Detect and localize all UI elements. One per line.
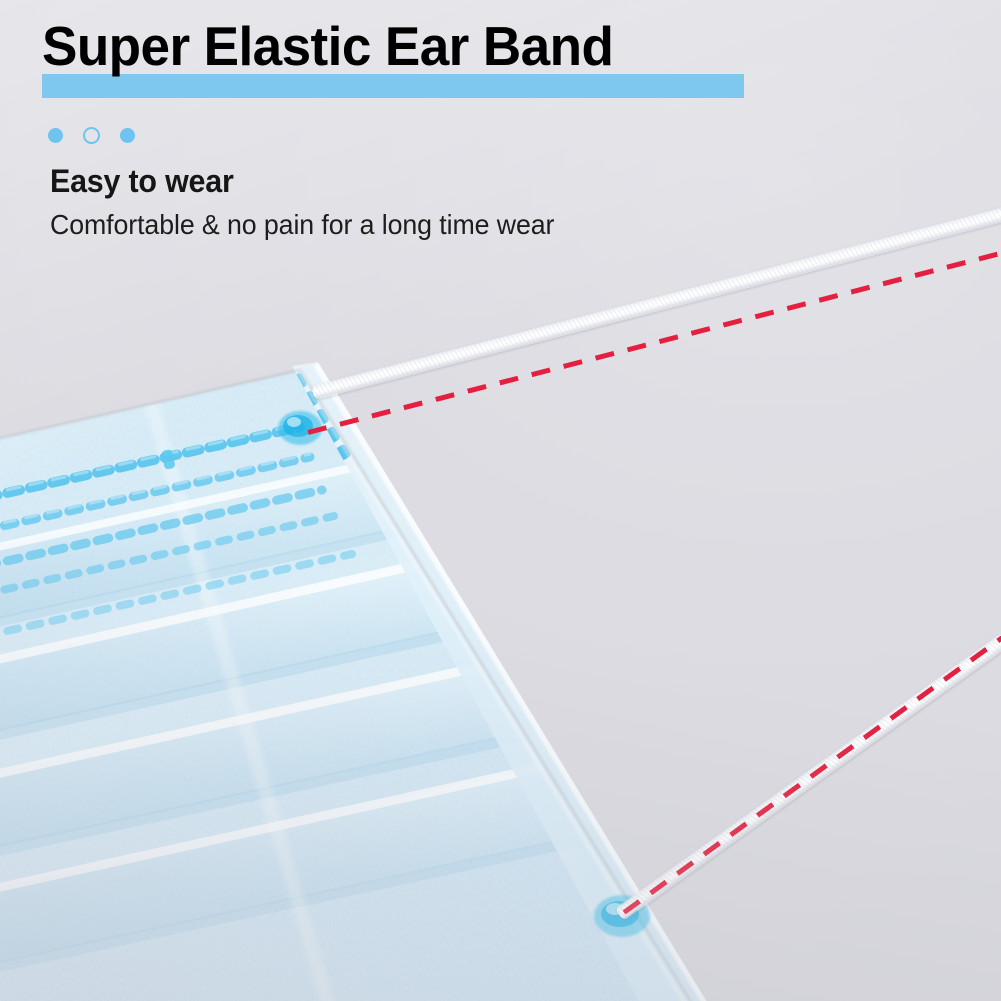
background-layer [0, 0, 1001, 1001]
carousel-dot-1[interactable] [48, 128, 63, 143]
carousel-dot-3[interactable] [120, 128, 135, 143]
feature-description: Comfortable & no pain for a long time we… [50, 209, 554, 241]
product-feature-banner: Super Elastic Ear Band Easy to wear Comf… [0, 0, 1001, 1001]
page-title: Super Elastic Ear Band [42, 18, 613, 74]
title-highlight-bar [42, 74, 744, 98]
carousel-dot-2[interactable] [83, 127, 100, 144]
carousel-indicator[interactable] [48, 127, 135, 144]
page-title-wrapper: Super Elastic Ear Band [42, 18, 634, 74]
feature-subheading: Easy to wear [50, 163, 234, 200]
header-block: Super Elastic Ear Band Easy to wear Comf… [42, 18, 922, 74]
